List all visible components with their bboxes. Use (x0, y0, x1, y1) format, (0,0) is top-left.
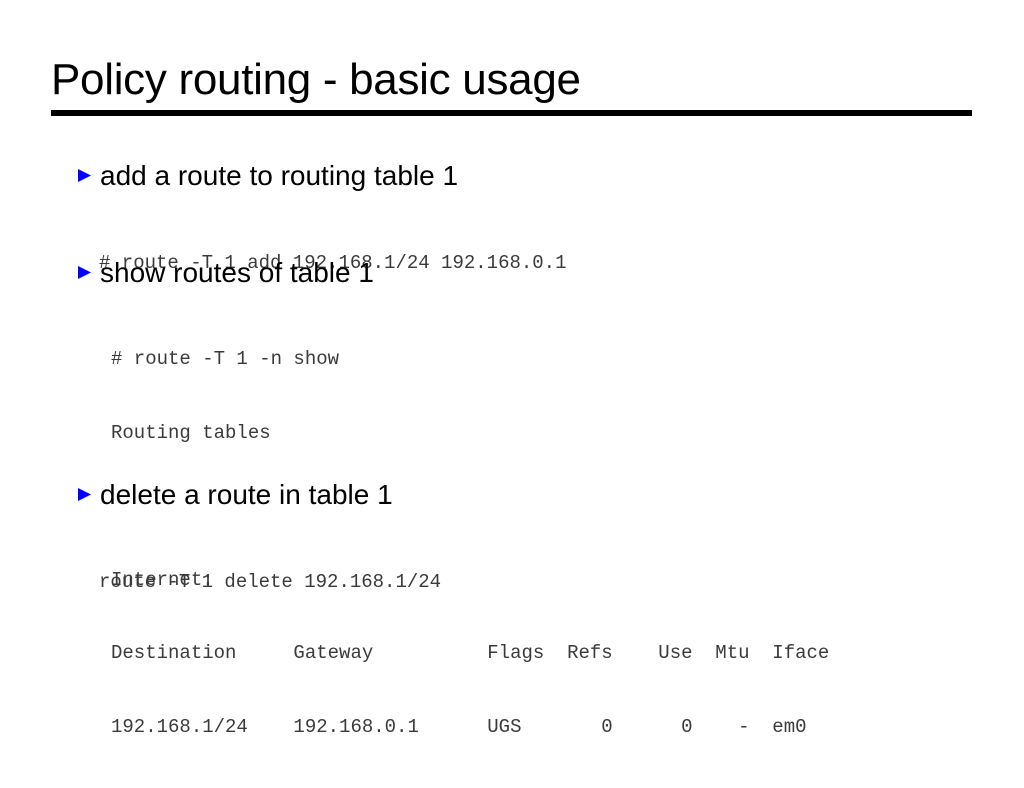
bullet-row: add a route to routing table 1 (78, 158, 458, 194)
slide: Policy routing - basic usage add a route… (0, 0, 1024, 768)
code-line: route -T 1 delete 192.168.1/24 (99, 570, 441, 595)
code-line-command: # route -T 1 -n show (111, 347, 829, 372)
bullet-row: delete a route in table 1 (78, 477, 393, 513)
code-line-table-header: Destination Gateway Flags Refs Use Mtu I… (111, 641, 829, 666)
code-line-caption: Routing tables (111, 421, 829, 446)
bullet-item-delete: delete a route in table 1 (78, 477, 393, 513)
triangle-right-icon (78, 266, 91, 279)
bullet-row: show routes of table 1 (78, 255, 374, 291)
bullet-item-show: show routes of table 1 (78, 255, 374, 291)
page-title: Policy routing - basic usage (51, 52, 973, 108)
bullet-item-add: add a route to routing table 1 (78, 158, 458, 194)
triangle-right-icon (78, 169, 91, 182)
bullet-label: delete a route in table 1 (100, 477, 393, 513)
code-line-table-row: 192.168.1/24 192.168.0.1 UGS 0 0 - em0 (111, 715, 829, 740)
title-divider (51, 110, 972, 116)
triangle-right-icon (78, 488, 91, 501)
code-block-delete: route -T 1 delete 192.168.1/24 (99, 521, 441, 644)
bullet-label: add a route to routing table 1 (100, 158, 458, 194)
bullet-label: show routes of table 1 (100, 255, 374, 291)
